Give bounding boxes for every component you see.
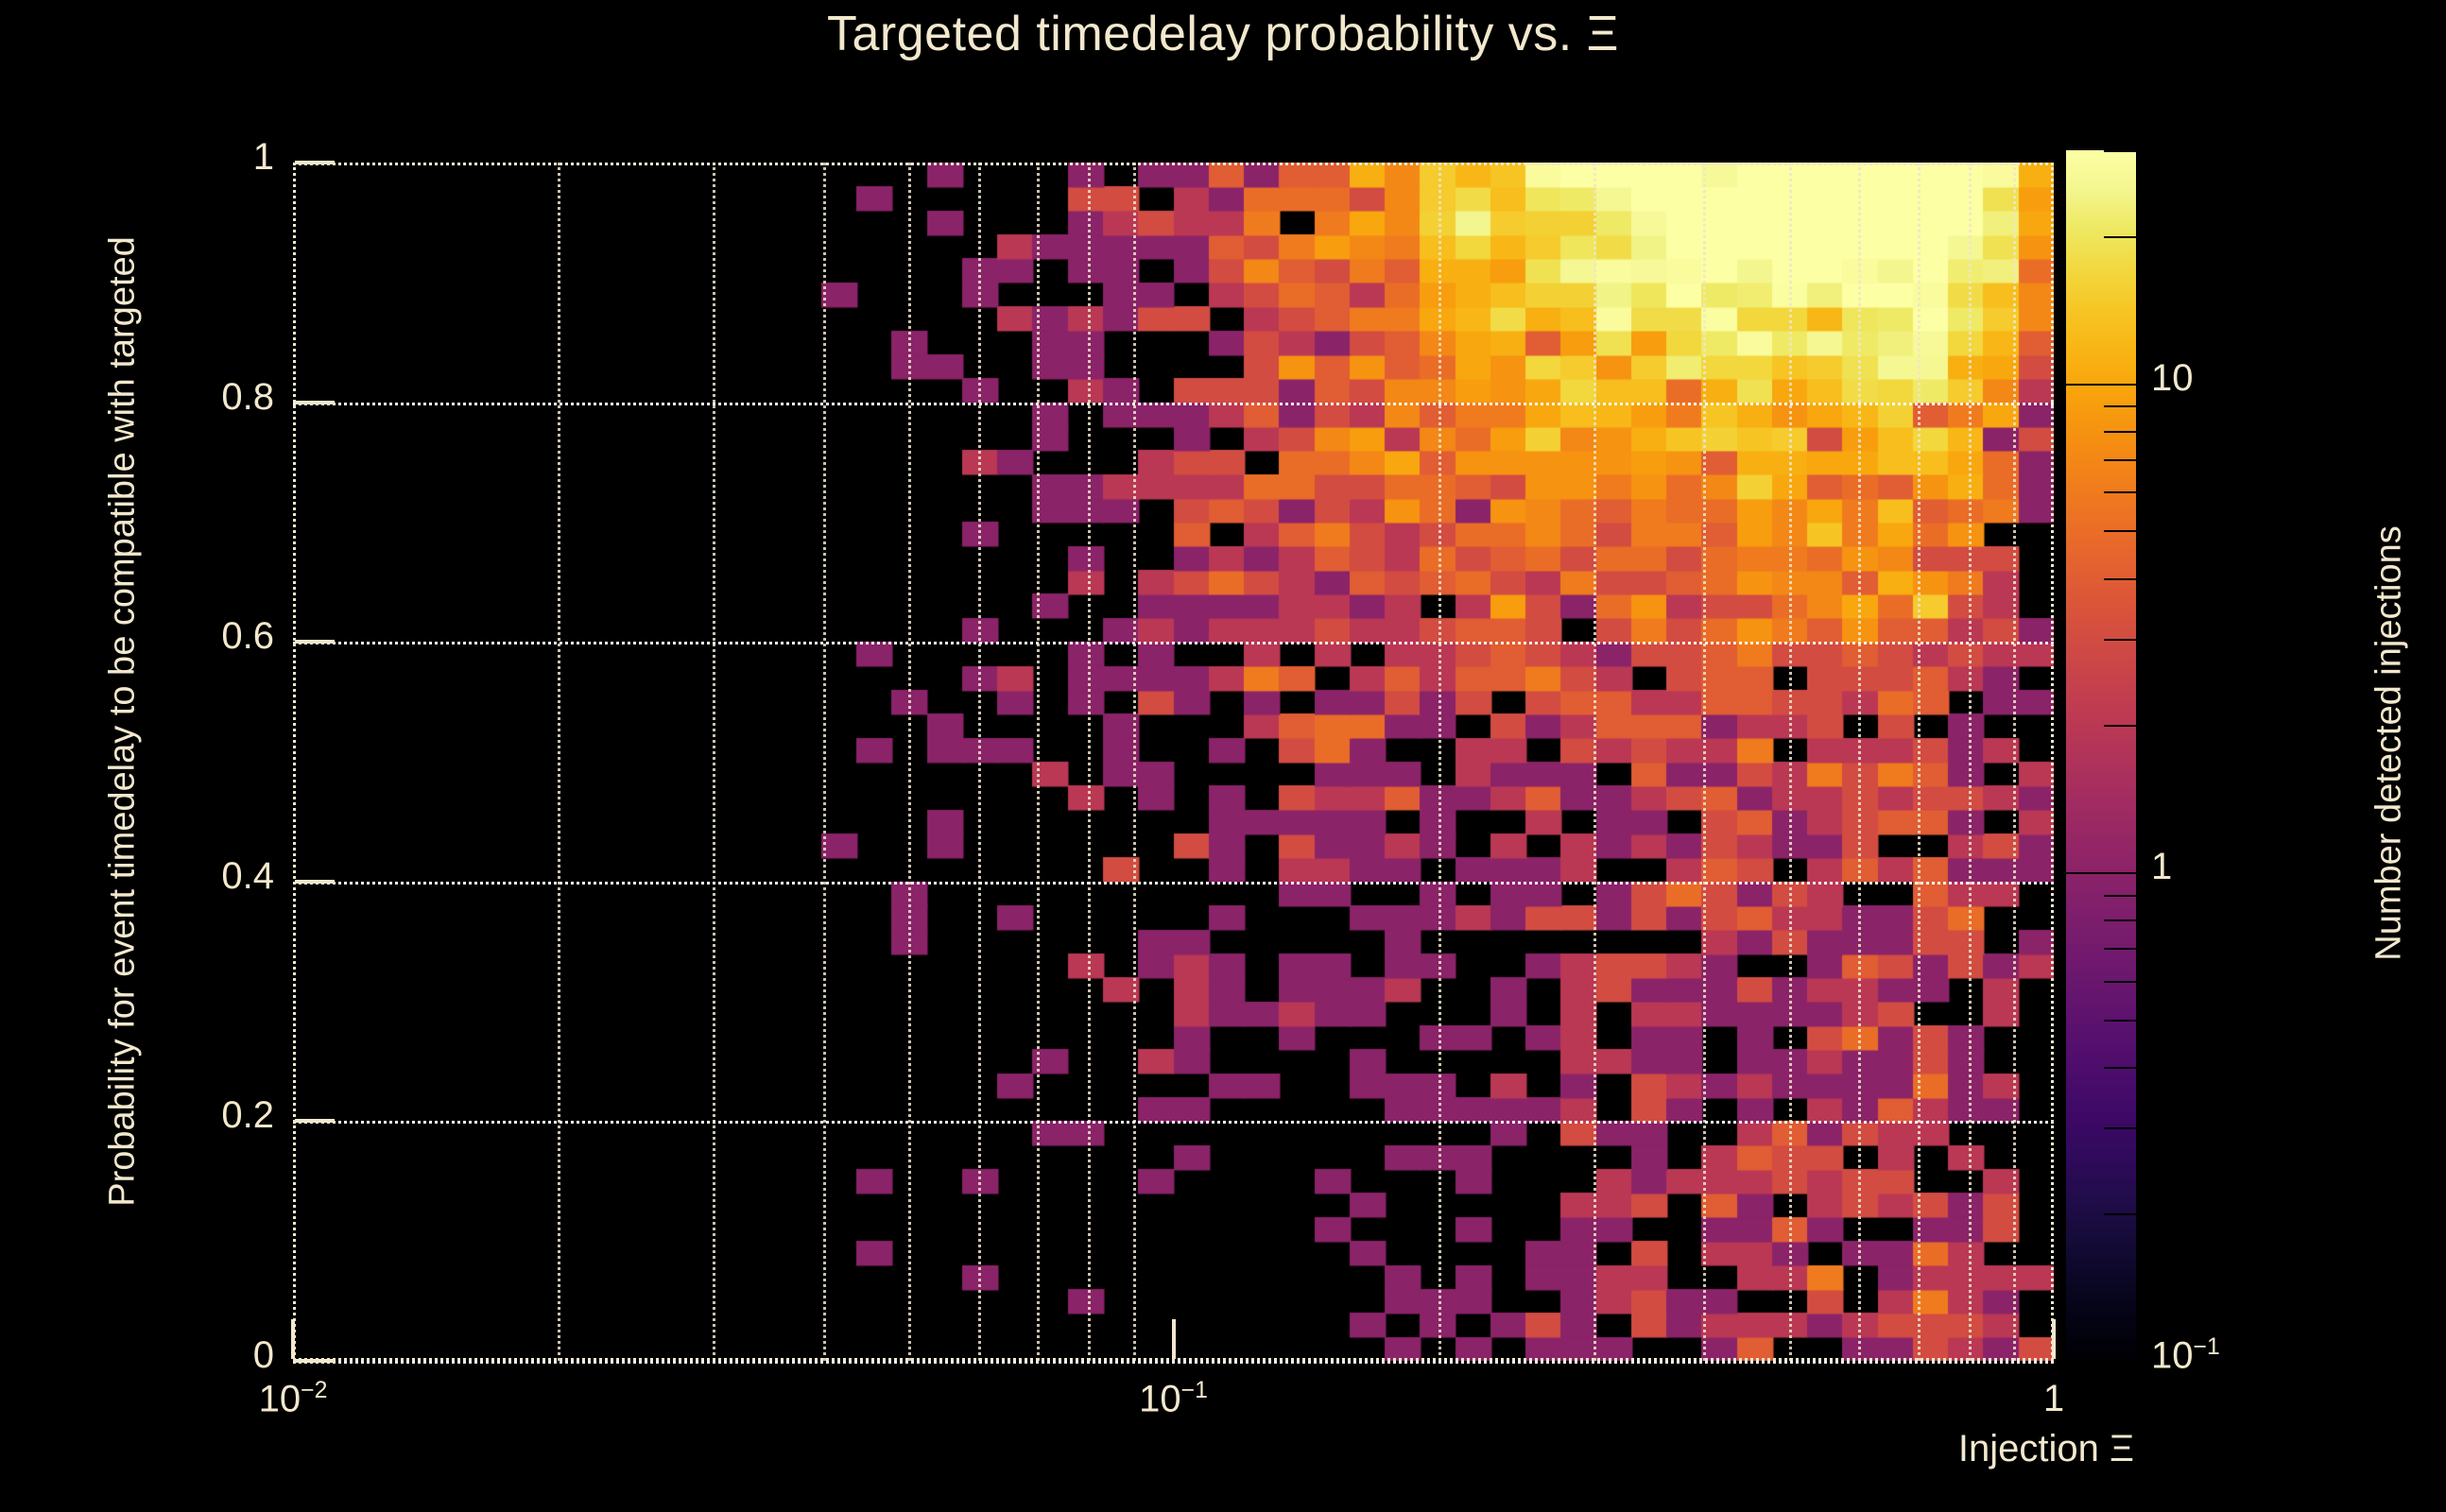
y-tick-mark <box>295 161 335 164</box>
y-tick-label: 0.4 <box>146 855 274 898</box>
colorbar-tick-mark <box>2066 1361 2136 1363</box>
y-tick-mark <box>295 880 335 884</box>
colorbar <box>2066 150 2136 1361</box>
x-tick-mark <box>1172 1319 1176 1359</box>
heatmap-plot-area <box>293 163 2054 1361</box>
x-tick-mark <box>2052 1319 2056 1359</box>
x-tick-label: 10−2 <box>208 1378 378 1420</box>
y-axis-label: Probability for event timedelay to be co… <box>103 89 144 1355</box>
x-axis-label: Injection Ξ <box>1958 1428 2134 1470</box>
gridline-horizontal <box>293 1361 2054 1364</box>
y-tick-label: 0.6 <box>146 615 274 658</box>
y-tick-label: 0.8 <box>146 376 274 419</box>
colorbar-label: Number detected injections <box>2369 134 2410 1353</box>
y-tick-mark <box>295 1359 335 1363</box>
y-tick-label: 0.2 <box>146 1094 274 1137</box>
y-tick-label: 0 <box>146 1334 274 1377</box>
y-tick-mark <box>295 640 335 644</box>
colorbar-tick-label: 1 <box>2151 846 2172 888</box>
y-tick-mark <box>295 401 335 404</box>
colorbar-tick-label: 10−1 <box>2151 1334 2220 1377</box>
chart-title: Targeted timedelay probability vs. Ξ <box>0 6 2446 62</box>
x-tick-label: 1 <box>2002 1378 2106 1420</box>
x-tick-label: 10−1 <box>1089 1378 1259 1420</box>
x-tick-mark <box>291 1319 295 1359</box>
y-tick-mark <box>295 1119 335 1123</box>
y-tick-label: 1 <box>146 136 274 179</box>
colorbar-tick-label: 10 <box>2151 357 2194 400</box>
figure-canvas: Targeted timedelay probability vs. Ξ Pro… <box>0 0 2446 1512</box>
